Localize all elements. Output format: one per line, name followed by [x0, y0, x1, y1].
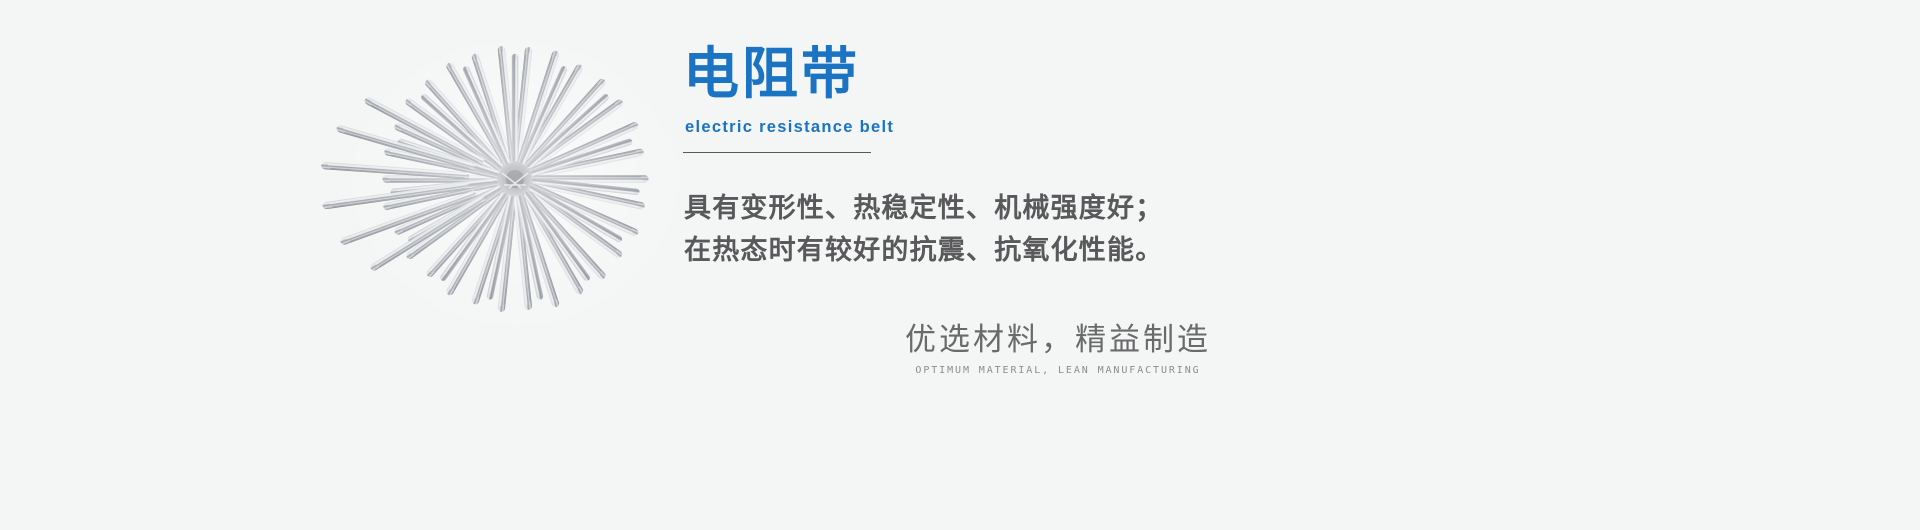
banner-text-column: 电阻带 electric resistance belt 具有变形性、热稳定性、…: [683, 0, 1583, 530]
slogan-chinese: 优选材料，精益制造: [778, 320, 1338, 360]
description-line-1: 具有变形性、热稳定性、机械强度好；: [684, 188, 1163, 230]
product-image: [340, 61, 690, 406]
description-line-2: 在热态时有较好的抗震、抗氧化性能。: [684, 230, 1163, 272]
page-subtitle: electric resistance belt: [685, 117, 894, 137]
product-description: 具有变形性、热稳定性、机械强度好； 在热态时有较好的抗震、抗氧化性能。: [684, 188, 1163, 272]
product-banner: 电阻带 electric resistance belt 具有变形性、热稳定性、…: [0, 0, 1920, 530]
slogan-block: 优选材料，精益制造 OPTIMUM MATERIAL, LEAN MANUFAC…: [778, 320, 1338, 378]
slogan-english: OPTIMUM MATERIAL, LEAN MANUFACTURING: [778, 364, 1338, 378]
page-title: 电阻带: [683, 44, 860, 106]
title-divider: [683, 152, 871, 153]
radial-metal-ribbon-coil-icon: [340, 61, 690, 406]
